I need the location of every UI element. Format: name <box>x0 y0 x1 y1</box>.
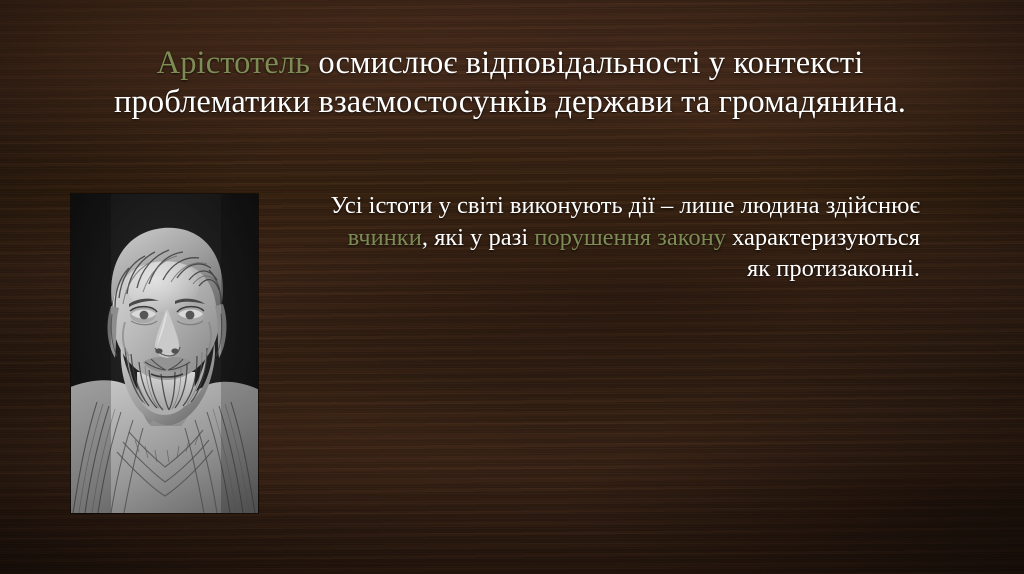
aristotle-bust-photo <box>71 194 258 513</box>
body-part-3: характеризуються як протизаконні. <box>726 224 920 283</box>
body-highlight-vchynky: вчинки <box>348 224 422 251</box>
presentation-slide: Арістотель осмислює відповідальності у к… <box>0 0 1024 574</box>
title-highlight-aristotle: Арістотель <box>157 45 310 81</box>
slide-body-text: Усі істоти у світі виконують дії – лише … <box>330 190 920 285</box>
slide-title: Арістотель осмислює відповідальності у к… <box>95 44 925 121</box>
body-part-1: Усі істоти у світі виконують дії – лише … <box>330 192 920 219</box>
body-highlight-porushennya-zakonu: порушення закону <box>534 224 726 251</box>
body-part-2: , які у разі <box>422 224 534 251</box>
